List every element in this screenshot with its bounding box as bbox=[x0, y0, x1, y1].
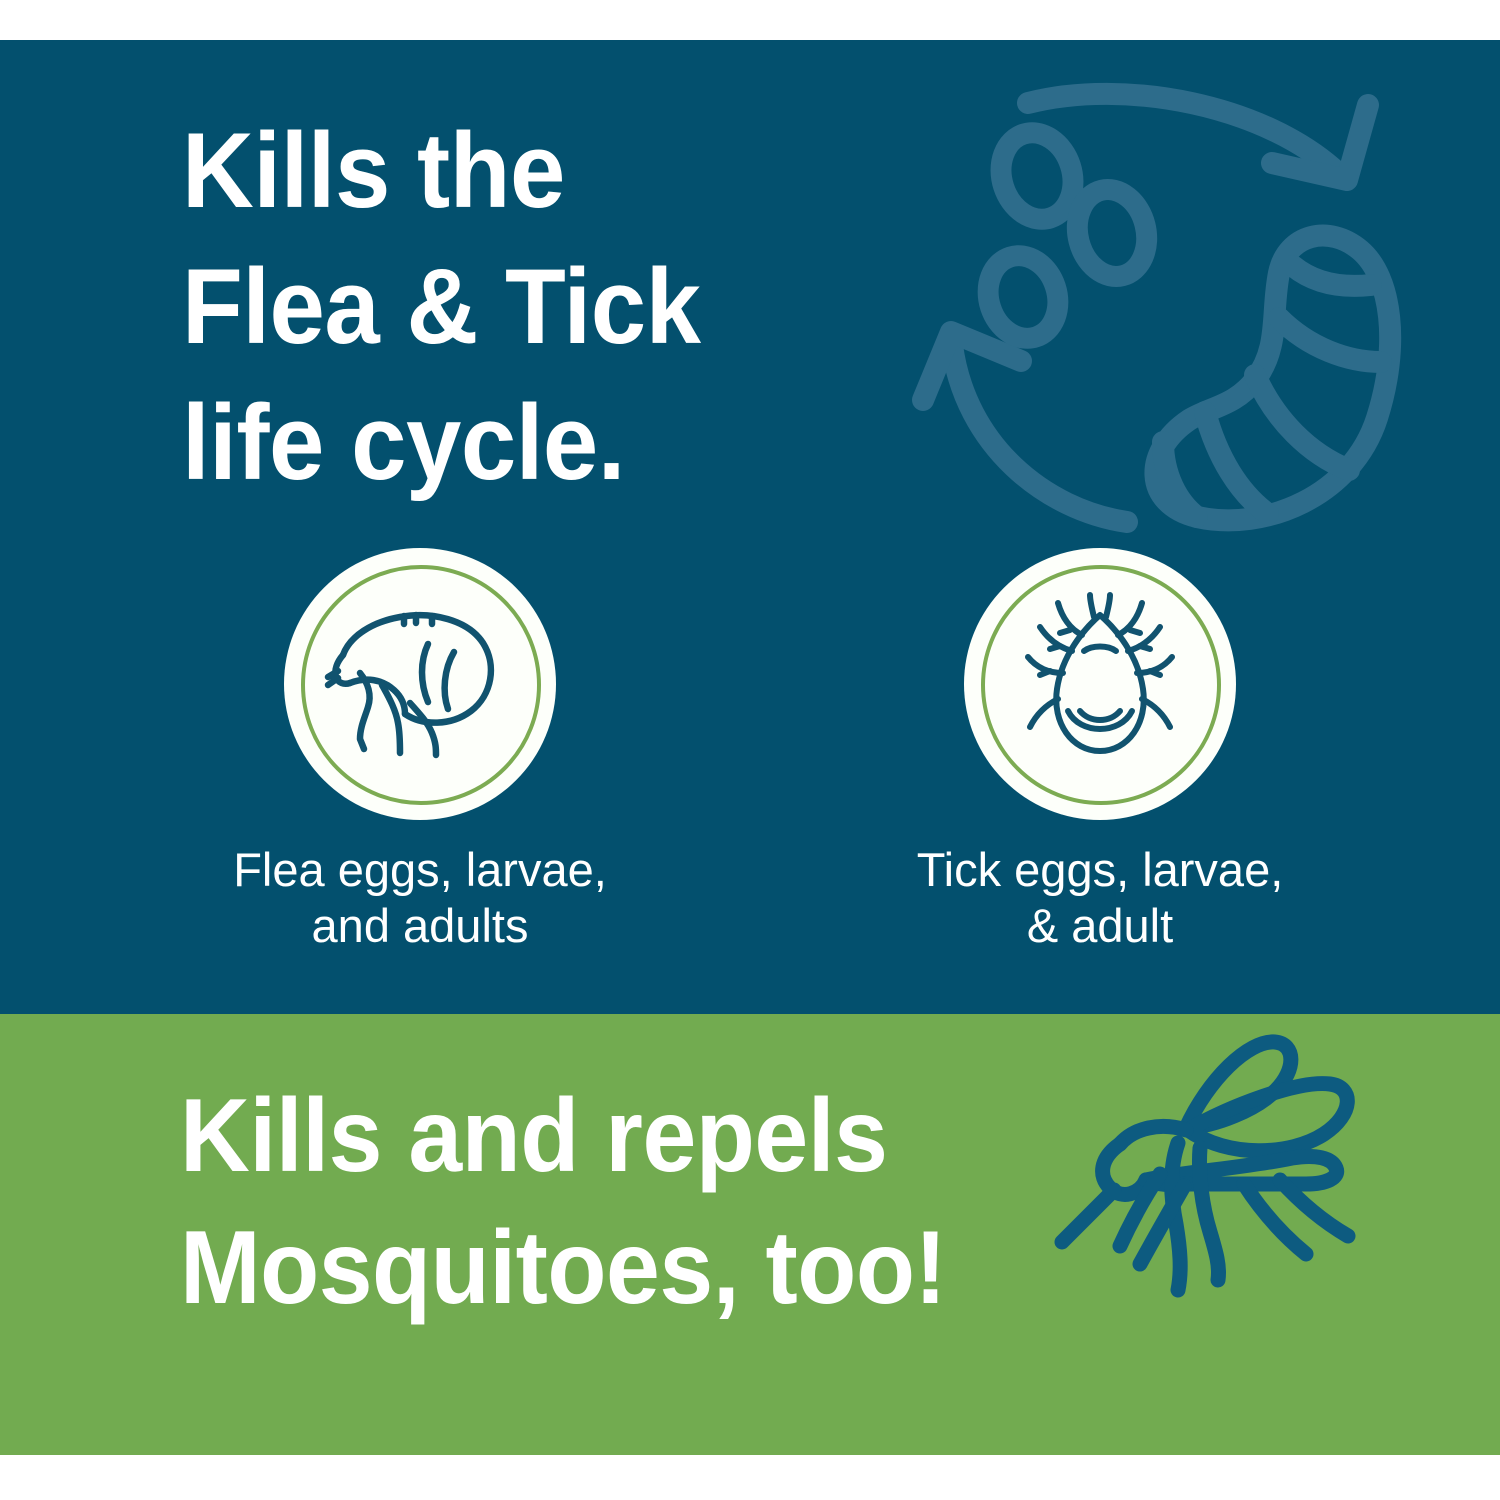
life-cycle-decoration bbox=[905, 70, 1425, 550]
tick-icon-circle bbox=[964, 548, 1236, 820]
mosquito-panel: Kills and repels Mosquitoes, too! bbox=[0, 1014, 1500, 1455]
tick-icon-block: Tick eggs, larvae, & adult bbox=[830, 548, 1370, 954]
infographic-canvas: Kills the Flea & Tick life cycle. bbox=[0, 0, 1500, 1500]
flea-caption: Flea eggs, larvae, and adults bbox=[150, 842, 690, 954]
page-title: Kills the Flea & Tick life cycle. bbox=[182, 102, 700, 510]
flea-icon bbox=[320, 599, 520, 769]
tick-caption: Tick eggs, larvae, & adult bbox=[830, 842, 1370, 954]
mosquito-icon bbox=[1048, 1018, 1388, 1328]
flea-tick-panel: Kills the Flea & Tick life cycle. bbox=[0, 40, 1500, 1014]
tick-icon bbox=[1010, 589, 1190, 779]
flea-icon-block: Flea eggs, larvae, and adults bbox=[150, 548, 690, 954]
flea-icon-circle bbox=[284, 548, 556, 820]
mosquito-decoration bbox=[1048, 1018, 1388, 1328]
mosquito-title: Kills and repels Mosquitoes, too! bbox=[180, 1070, 946, 1334]
